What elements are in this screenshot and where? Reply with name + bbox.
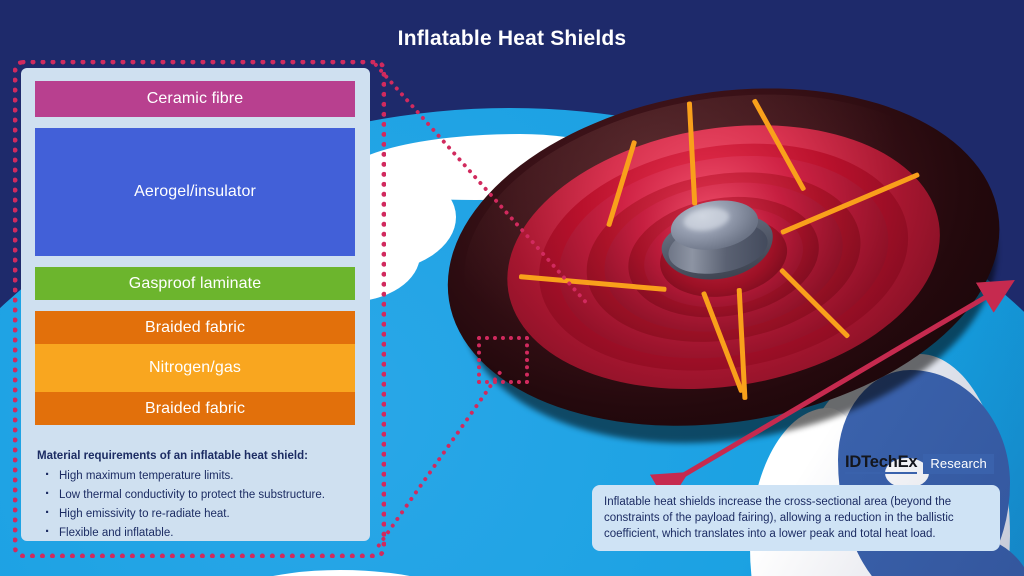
layer-ceramic-fibre: Ceramic fibre (35, 81, 355, 117)
layer-gasproof: Gasproof laminate (35, 267, 355, 300)
list-item: High emissivity to re-radiate heat. (37, 505, 367, 524)
list-item: High maximum temperature limits. (37, 467, 367, 486)
requirements-list: High maximum temperature limits. Low the… (37, 467, 367, 543)
material-stack-panel: Ceramic fibre Aerogel/insulator Gasproof… (21, 68, 370, 541)
layer-braided-bottom: Braided fabric (35, 392, 355, 425)
infographic-canvas: Inflatable Heat Shields Ceramic fibre Ae… (0, 0, 1024, 576)
layer-aerogel: Aerogel/insulator (35, 128, 355, 256)
requirements-block: Material requirements of an inflatable h… (37, 450, 367, 543)
list-item: Flexible and inflatable. (37, 524, 367, 543)
logo-badge: Research (923, 454, 993, 474)
caption-box: Inflatable heat shields increase the cro… (592, 485, 1000, 551)
idtechex-logo: IDTechEx Research (845, 453, 994, 474)
layer-stack: Ceramic fibre Aerogel/insulator Gasproof… (35, 81, 355, 425)
logo-wordmark: IDTechEx (845, 453, 917, 474)
requirements-title: Material requirements of an inflatable h… (37, 450, 367, 462)
layer-nitrogen-gas: Nitrogen/gas (35, 344, 355, 392)
list-item: Low thermal conductivity to protect the … (37, 486, 367, 505)
cross-section-marker (477, 336, 529, 384)
page-title: Inflatable Heat Shields (0, 27, 1024, 51)
layer-braided-top: Braided fabric (35, 311, 355, 344)
